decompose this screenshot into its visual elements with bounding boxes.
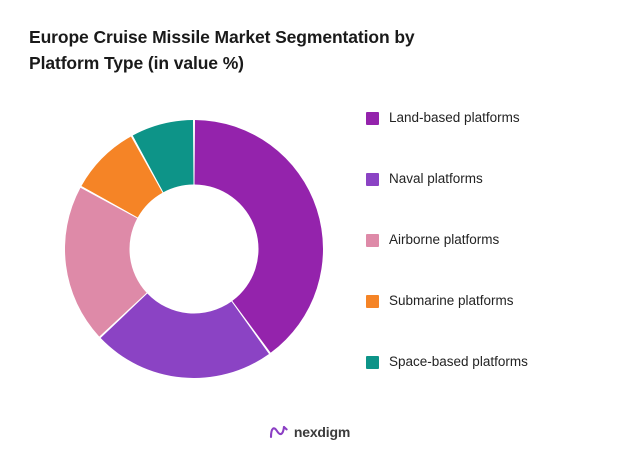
legend-item[interactable]: Naval platforms bbox=[366, 169, 606, 189]
brand-footer: nexdigm bbox=[0, 424, 619, 440]
chart-title-line-2: Platform Type (in value %) bbox=[29, 53, 244, 73]
legend-item-label: Naval platforms bbox=[389, 171, 483, 187]
legend-item-label: Land-based platforms bbox=[389, 110, 520, 126]
chart-card: Europe Cruise Missile Market Segmentatio… bbox=[0, 0, 619, 465]
page-title: Europe Cruise Missile Market Segmentatio… bbox=[29, 24, 509, 76]
legend-item[interactable]: Submarine platforms bbox=[366, 291, 606, 311]
legend-item[interactable]: Airborne platforms bbox=[366, 230, 606, 250]
legend-item-label: Submarine platforms bbox=[389, 293, 514, 309]
square-swatch-icon bbox=[366, 173, 379, 186]
donut-chart bbox=[65, 120, 323, 378]
square-swatch-icon bbox=[366, 295, 379, 308]
square-swatch-icon bbox=[366, 356, 379, 369]
legend-item-label: Space-based platforms bbox=[389, 354, 528, 370]
square-swatch-icon bbox=[366, 112, 379, 125]
brand-name: nexdigm bbox=[294, 424, 350, 440]
legend-item-label: Airborne platforms bbox=[389, 232, 499, 248]
donut-slice-group bbox=[65, 120, 323, 378]
donut-chart-svg bbox=[65, 120, 323, 378]
chart-title-line-1: Europe Cruise Missile Market Segmentatio… bbox=[29, 27, 415, 47]
chart-legend: Land-based platforms Naval platforms Air… bbox=[366, 108, 606, 372]
legend-item[interactable]: Space-based platforms bbox=[366, 352, 606, 372]
legend-item[interactable]: Land-based platforms bbox=[366, 108, 606, 128]
nexdigm-logo-icon bbox=[269, 424, 288, 440]
square-swatch-icon bbox=[366, 234, 379, 247]
